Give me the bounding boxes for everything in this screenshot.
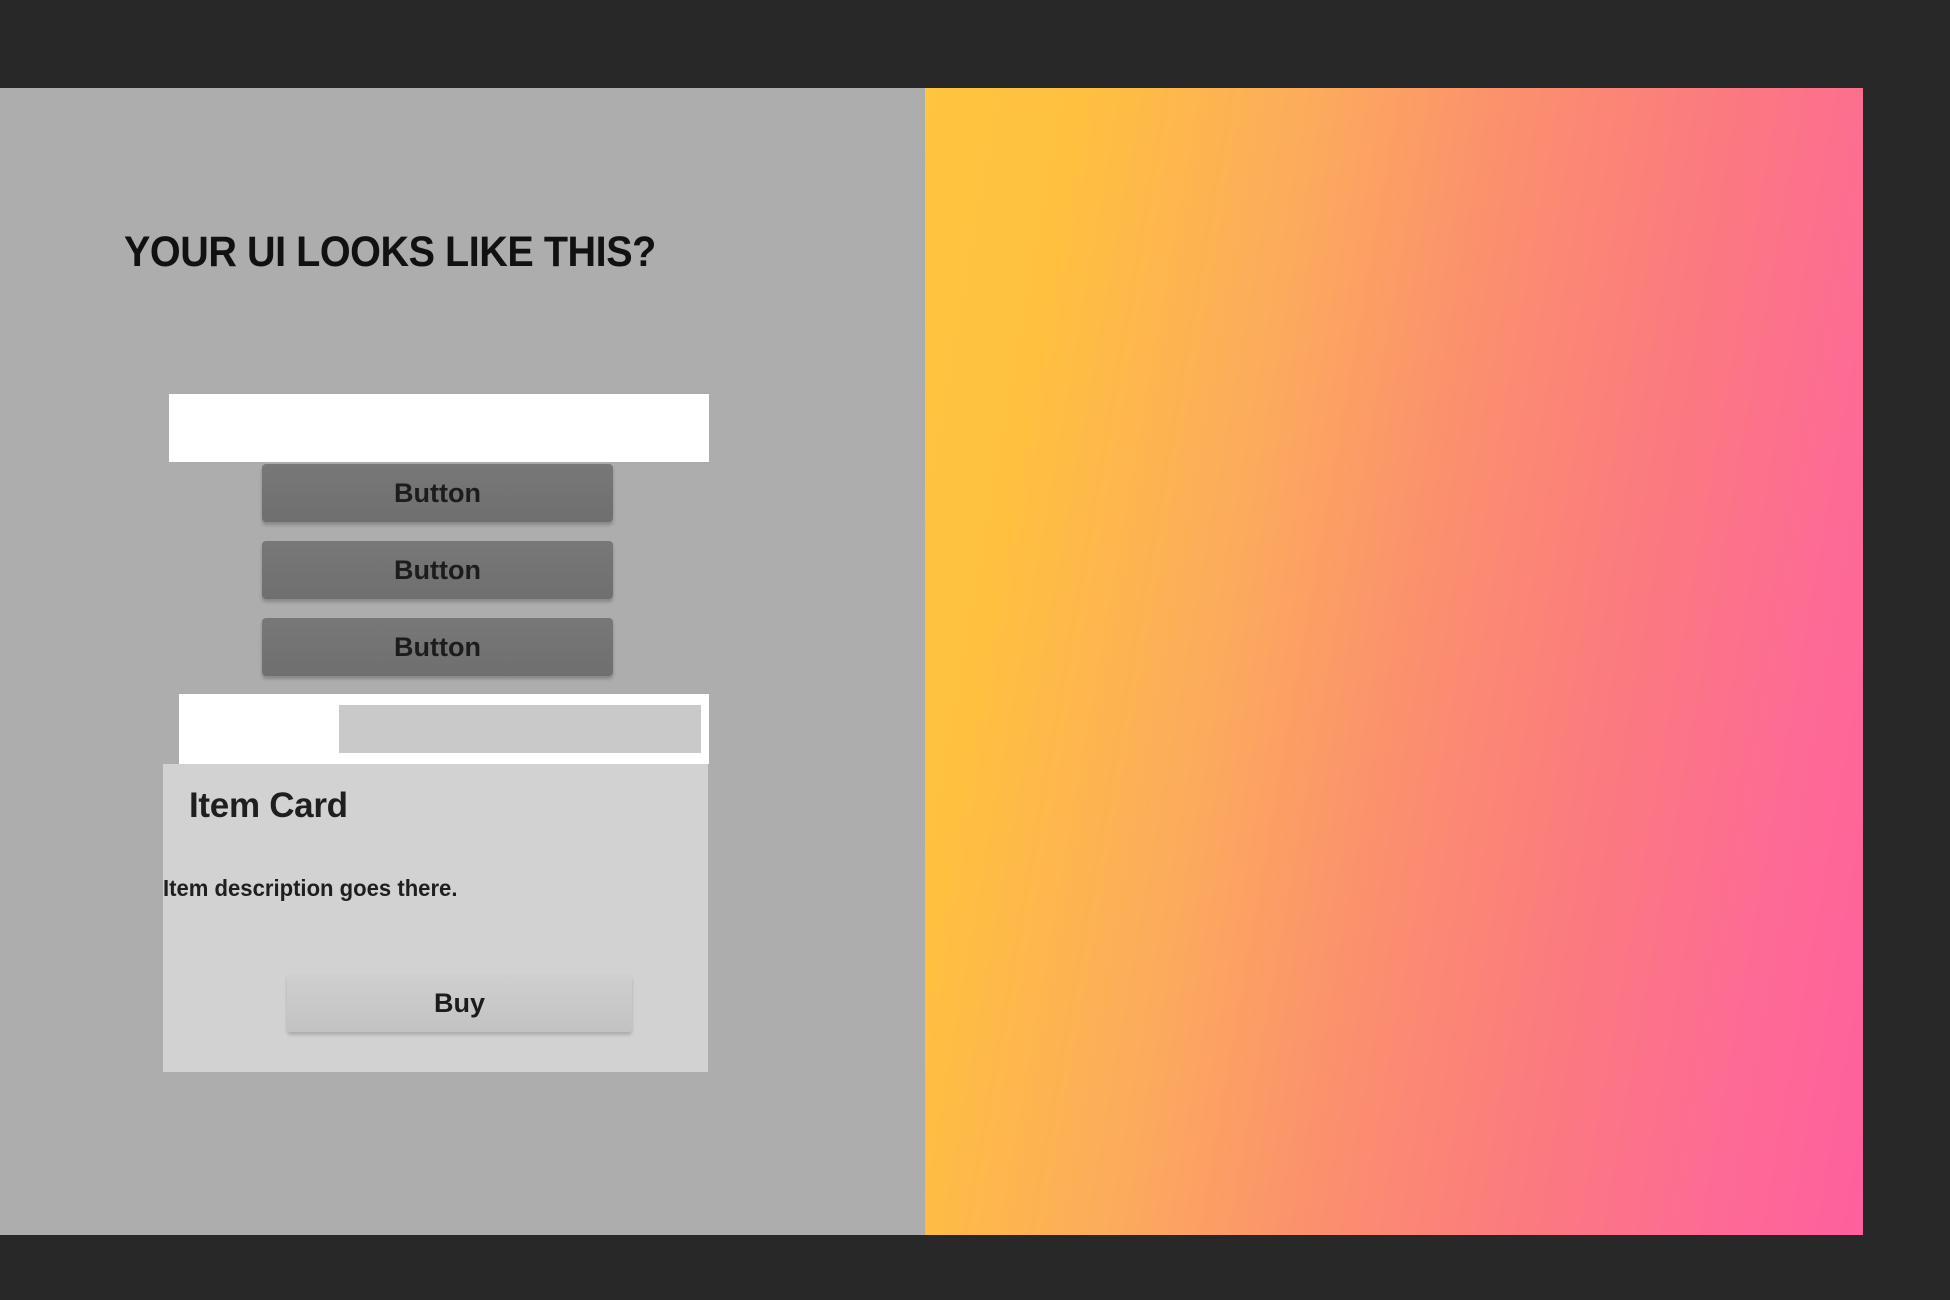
before-panel: YOUR UI LOOKS LIKE THIS? Button Button B… [0,88,925,1235]
item-card-title-before: Item Card [189,786,682,826]
comparison-stage: YOUR UI LOOKS LIKE THIS? Button Button B… [0,88,1863,1235]
before-panel-title: YOUR UI LOOKS LIKE THIS? [124,228,656,277]
buy-button-before[interactable]: Buy [287,974,632,1032]
item-card-description-before: Item description goes there. [163,875,457,902]
button-before-1[interactable]: Button [262,464,613,522]
button-before-2[interactable]: Button [262,541,613,599]
after-panel: CHANGE IT IN SECONDS! Button Button Butt… [925,88,1863,1235]
item-card-before: Item Card Item description goes there. B… [163,764,708,1072]
text-input-before[interactable] [169,394,709,462]
button-before-3[interactable]: Button [262,618,613,676]
progress-bar-before[interactable] [179,694,709,764]
progress-fill-before [339,705,701,753]
